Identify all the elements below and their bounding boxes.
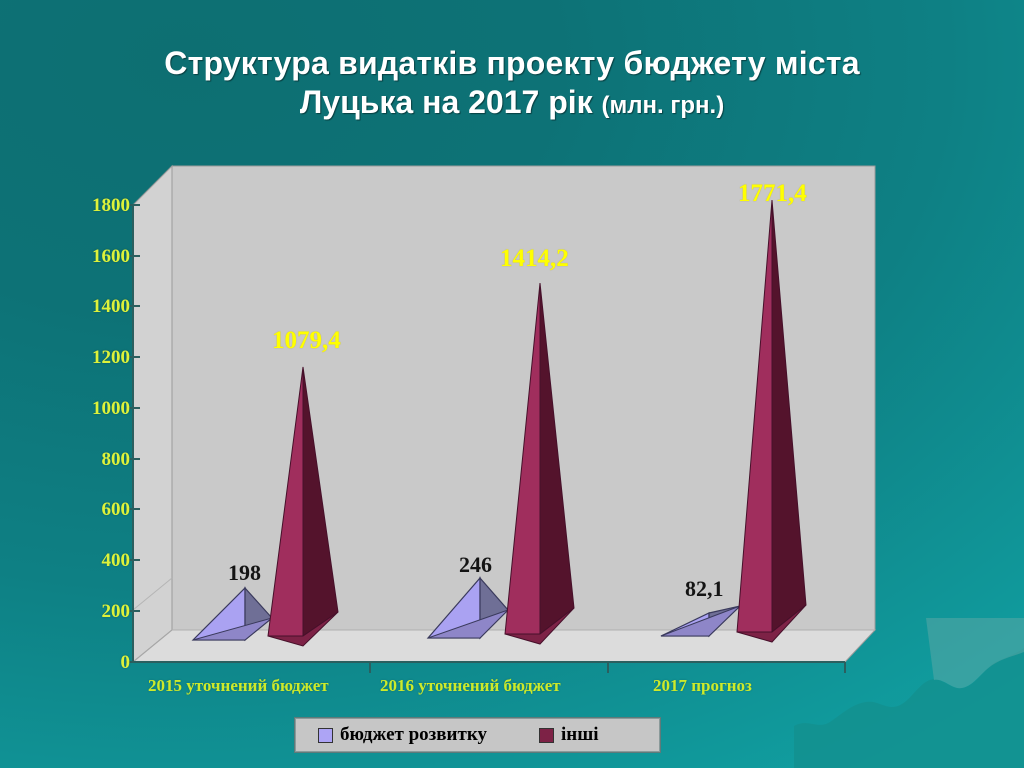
chart-3d-plot xyxy=(0,0,1024,768)
x-category-label-2016: 2016 уточнений бюджет xyxy=(380,676,561,696)
y-tick-600: 600 xyxy=(66,500,130,519)
y-tick-800: 800 xyxy=(66,450,130,469)
x-axis-ticks xyxy=(370,662,845,673)
legend-label-budget-dev: бюджет розвитку xyxy=(340,724,487,746)
slide-root: Структура видатків проекту бюджету міста… xyxy=(0,0,1024,768)
y-tick-200: 200 xyxy=(66,602,130,621)
legend-item-other[interactable]: інші xyxy=(539,724,599,746)
value-label-2016-other: 1414,2 xyxy=(500,245,569,273)
y-tick-1000: 1000 xyxy=(66,399,130,418)
y-tick-1600: 1600 xyxy=(66,247,130,266)
value-label-2016-budget-dev: 246 xyxy=(459,552,492,578)
plot-left-wall xyxy=(133,166,172,662)
legend-label-other: інші xyxy=(561,724,599,746)
legend-swatch-budget-dev-icon xyxy=(318,728,333,743)
legend-swatch-other-icon xyxy=(539,728,554,743)
x-category-label-2015: 2015 уточнений бюджет xyxy=(148,676,329,696)
chart-legend[interactable]: бюджет розвитку інші xyxy=(295,718,660,752)
y-axis-tick-labels: 0 200 400 600 800 1000 1200 1400 1600 18… xyxy=(66,0,130,768)
value-label-2017-other: 1771,4 xyxy=(738,180,807,208)
y-tick-1400: 1400 xyxy=(66,297,130,316)
value-label-2015-budget-dev: 198 xyxy=(228,560,261,586)
value-label-2015-other: 1079,4 xyxy=(272,327,341,355)
x-category-label-2017: 2017 прогноз xyxy=(653,676,752,696)
value-label-2017-budget-dev: 82,1 xyxy=(685,576,724,602)
y-tick-400: 400 xyxy=(66,551,130,570)
y-tick-1800: 1800 xyxy=(66,196,130,215)
y-tick-1200: 1200 xyxy=(66,348,130,367)
legend-item-budget-dev[interactable]: бюджет розвитку xyxy=(318,724,487,746)
y-tick-0: 0 xyxy=(66,653,130,672)
